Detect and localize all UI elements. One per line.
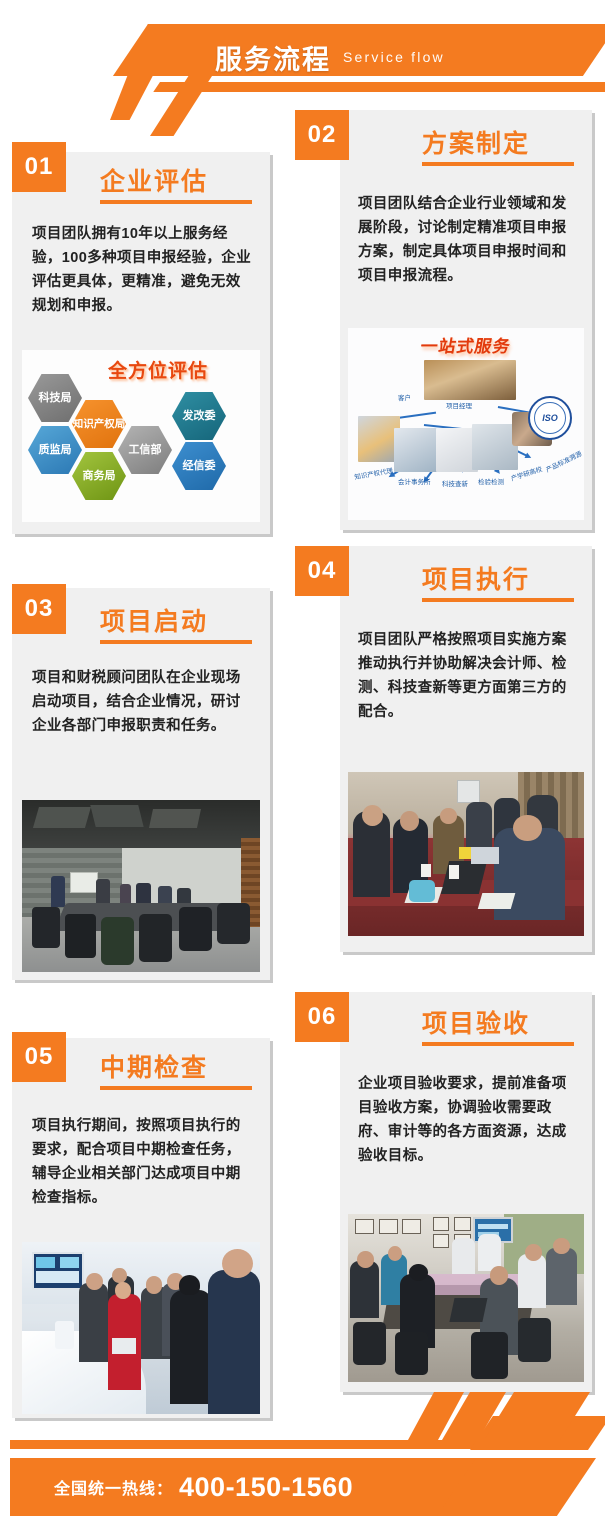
hexagon-assessment-chart: 全方位评估 科技局 知识产权局 质监局 工信部 商务局 发改委 经信委 [22,350,260,522]
title-underline [100,640,252,644]
meeting-laptops-photo [348,772,584,936]
step-title: 方案制定 [422,124,530,160]
step-title: 中期检查 [100,1048,208,1084]
hex-label: 商务局 [72,452,126,500]
diagram-label: 科技查新 [442,478,468,488]
step-number-badge: 01 [12,142,66,192]
graphic-title: 全方位评估 [108,356,208,383]
page-subtitle: Service flow [343,49,445,65]
graphic-title: 一站式服务 [419,332,513,357]
hex-label: 工信部 [118,426,172,474]
boardroom-acceptance-photo [348,1214,584,1382]
step-number-badge: 05 [12,1032,66,1082]
diagram-label: 会计事务所 [398,476,431,486]
service-flow-poster: 服务流程 Service flow 01 企业评估 项目团队拥有10年以上服务经… [0,0,605,1538]
diagram-label: 项目经理 [446,400,472,410]
title-underline [100,200,252,204]
step-card-01[interactable]: 01 企业评估 项目团队拥有10年以上服务经验，100多种项目申报经验，企业评估… [12,152,270,534]
step-title: 项目启动 [100,602,208,638]
header-underline-band [153,82,605,92]
step-description: 项目团队结合企业行业领域和发展阶段，讨论制定精准项目申报方案，制定具体项目申报时… [358,192,574,288]
footer-chevron-decor [330,1392,590,1440]
hotline-number[interactable]: 400-150-1560 [179,1472,353,1503]
step-number-badge: 03 [12,584,66,634]
hex-label: 经信委 [172,442,226,490]
step-number-badge: 02 [295,110,349,160]
hex-label: 质监局 [28,426,82,474]
header-banner: 服务流程 Service flow [0,0,605,120]
diagram-label: 知识产权代理 [353,465,393,482]
title-underline [422,1042,574,1046]
step-description: 项目执行期间，按照项目执行的要求，配合项目中期检查任务，辅导企业相关部门达成项目… [32,1114,252,1210]
step-card-02[interactable]: 02 方案制定 项目团队结合企业行业领域和发展阶段，讨论制定精准项目申报方案，制… [340,110,592,530]
step-title: 项目执行 [422,560,530,596]
title-underline [422,598,574,602]
footer-accent-line [10,1440,538,1449]
step-card-04[interactable]: 04 项目执行 项目团队严格按照项目实施方案推动执行并协助解决会计师、检测、科技… [340,546,592,952]
chevron-icon [330,1392,590,1440]
step-number-badge: 04 [295,546,349,596]
step-number-badge: 06 [295,992,349,1042]
one-stop-service-diagram: 一站式服务 客户 项目经理 ISO [348,328,584,520]
hotline-label: 全国统一热线： [54,1475,173,1499]
title-underline [100,1086,252,1090]
site-visit-photo [22,1242,260,1414]
step-card-03[interactable]: 03 项目启动 项目和财税顾问团队在企业现场启动项目，结合企业情况，研讨企业各部… [12,588,270,980]
conference-room-photo [22,800,260,972]
step-description: 项目和财税顾问团队在企业现场启动项目，结合企业情况，研讨企业各部门申报职责和任务… [32,666,252,738]
scene-tile [394,428,438,472]
step-card-06[interactable]: 06 项目验收 企业项目验收要求，提前准备项目验收方案，协调验收需要政府、审计等… [340,992,592,1392]
diagram-label: 产品标准溯源 [544,448,583,474]
hotline-group[interactable]: 全国统一热线： 400-150-1560 [54,1458,353,1516]
diagram-label: 客户 [398,392,411,402]
iso-badge: ISO [528,396,572,440]
hex-label: 知识产权局 [72,400,126,448]
step-title: 企业评估 [100,162,208,198]
header-title-group: 服务流程 Service flow [215,34,605,80]
step-card-05[interactable]: 05 中期检查 项目执行期间，按照项目执行的要求，配合项目中期检查任务，辅导企业… [12,1038,270,1418]
diagram-label: 检验检测 [478,476,504,486]
scene-tile [424,360,516,400]
step-title: 项目验收 [422,1004,530,1040]
step-description: 项目团队严格按照项目实施方案推动执行并协助解决会计师、检测、科技查新等更方面第三… [358,628,574,724]
step-description: 企业项目验收要求，提前准备项目验收方案，协调验收需要政府、审计等的各方面资源，达… [358,1072,574,1168]
page-title: 服务流程 [215,38,331,77]
title-underline [422,162,574,166]
hex-label: 发改委 [172,392,226,440]
hex-label: 科技局 [28,374,82,422]
step-description: 项目团队拥有10年以上服务经验，100多种项目申报经验，企业评估更具体，更精准，… [32,222,252,318]
